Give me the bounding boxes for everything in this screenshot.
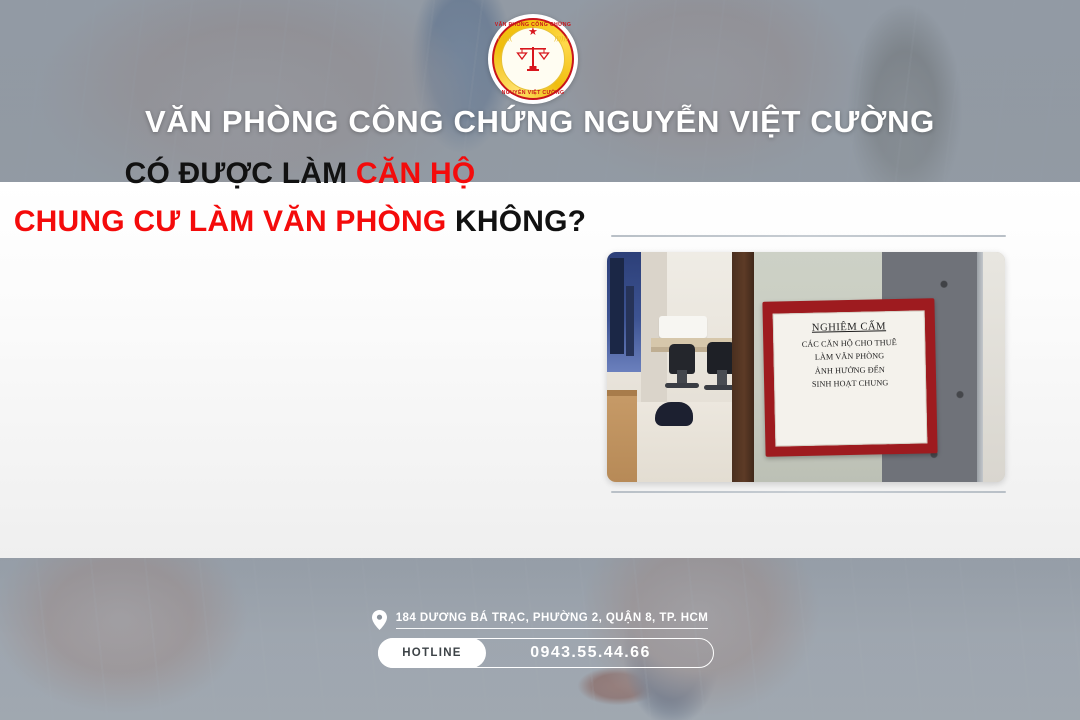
photo-right-wall: [983, 252, 1005, 482]
headline-line1-plain: CÓ ĐƯỢC LÀM: [125, 157, 356, 190]
office-address: 184 DƯƠNG BÁ TRẠC, PHƯỜNG 2, QUẬN 8, TP.…: [396, 612, 709, 629]
company-logo: VĂN PHÒNG CÔNG CHỨNG NGUYỄN VIỆT CƯỜNG ★…: [488, 14, 578, 104]
logo-laurel-left-icon: (((((((: [498, 36, 512, 78]
prohibition-sign-line-4: SINH HOẠT CHUNG: [812, 378, 889, 389]
headline-question: CÓ ĐƯỢC LÀM CĂN HỘ CHUNG CƯ LÀM VĂN PHÒN…: [0, 150, 600, 246]
logo-laurel-right-icon: ))))))): [554, 36, 568, 78]
prohibition-sign-line-2: LÀM VĂN PHÒNG: [815, 352, 885, 362]
photo-building-1: [610, 258, 624, 354]
photo-cardboard-box: [607, 390, 637, 482]
prohibition-sign-paper: NGHIÊM CẤM CÁC CĂN HỘ CHO THUÊ LÀM VĂN P…: [773, 310, 928, 446]
divider-below-photo: [611, 491, 1006, 493]
headline-line1-accent: CĂN HỘ: [356, 157, 476, 190]
photo-door-frame: [732, 252, 754, 482]
headline-line2-plain: KHÔNG?: [446, 205, 586, 238]
divider-above-photo: [611, 235, 1006, 237]
photo-building-2: [626, 286, 634, 356]
photo-backpack: [655, 402, 693, 426]
hotline-label-badge: HOTLINE: [378, 638, 486, 668]
scales-of-justice-icon: [516, 44, 550, 74]
prohibition-sign-line-1: CÁC CĂN HỘ CHO THUÊ: [802, 338, 897, 349]
prohibition-sign-line-3: ẢNH HƯỞNG ĐẾN: [815, 365, 885, 375]
slide-root: VĂN PHÒNG CÔNG CHỨNG NGUYỄN VIỆT CƯỜNG ★…: [0, 0, 1080, 720]
photo-chair-1-base: [665, 383, 699, 388]
photo-air-conditioner: [659, 316, 707, 338]
prohibition-sign-title: NGHIÊM CẤM: [779, 320, 919, 336]
page-title: VĂN PHÒNG CÔNG CHỨNG NGUYỄN VIỆT CƯỜNG: [0, 104, 1080, 140]
illustration-photo: NGHIÊM CẤM CÁC CĂN HỘ CHO THUÊ LÀM VĂN P…: [607, 252, 1005, 482]
headline-line2-accent: CHUNG CƯ LÀM VĂN PHÒNG: [14, 205, 447, 238]
logo-arc-bottom-text: NGUYỄN VIỆT CƯỜNG: [488, 91, 578, 96]
hotline-phone-number[interactable]: 0943.55.44.66: [486, 644, 713, 662]
hotline-bar[interactable]: HOTLINE 0943.55.44.66: [378, 638, 714, 668]
prohibition-sign: NGHIÊM CẤM CÁC CĂN HỘ CHO THUÊ LÀM VĂN P…: [762, 298, 937, 457]
address-row: 184 DƯƠNG BÁ TRẠC, PHƯỜNG 2, QUẬN 8, TP.…: [0, 610, 1080, 630]
headline-line-1: CÓ ĐƯỢC LÀM CĂN HỘ: [0, 150, 600, 198]
location-pin-icon: [372, 610, 387, 630]
headline-line-2: CHUNG CƯ LÀM VĂN PHÒNG KHÔNG?: [0, 198, 600, 246]
prohibition-sign-text: NGHIÊM CẤM CÁC CĂN HỘ CHO THUÊ LÀM VĂN P…: [779, 320, 920, 392]
photo-cardboard-box-top: [607, 390, 637, 396]
